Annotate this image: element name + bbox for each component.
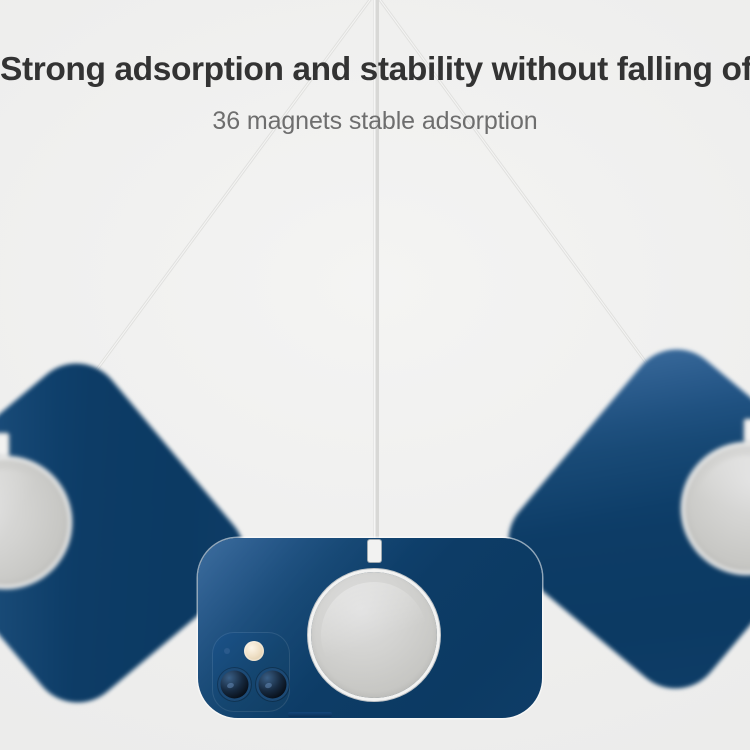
volume-button [288, 712, 332, 717]
camera-flash-icon [244, 641, 264, 661]
camera-microphone-icon [224, 648, 230, 654]
magsafe-charger-center [311, 572, 437, 698]
page-subtitle: 36 magnets stable adsorption [0, 106, 750, 136]
product-marketing-image: Strong adsorption and stability without … [0, 0, 750, 750]
cable-connector-left [0, 433, 9, 455]
camera-lens-wide [218, 668, 251, 701]
camera-lens-ultrawide [256, 668, 289, 701]
puck-inner-center [321, 582, 427, 688]
center-phone-unit [198, 538, 542, 718]
cable-connector-center [368, 540, 381, 562]
page-title: Strong adsorption and stability without … [0, 52, 750, 89]
camera-module [212, 632, 290, 712]
cable-connector-right [744, 419, 750, 441]
